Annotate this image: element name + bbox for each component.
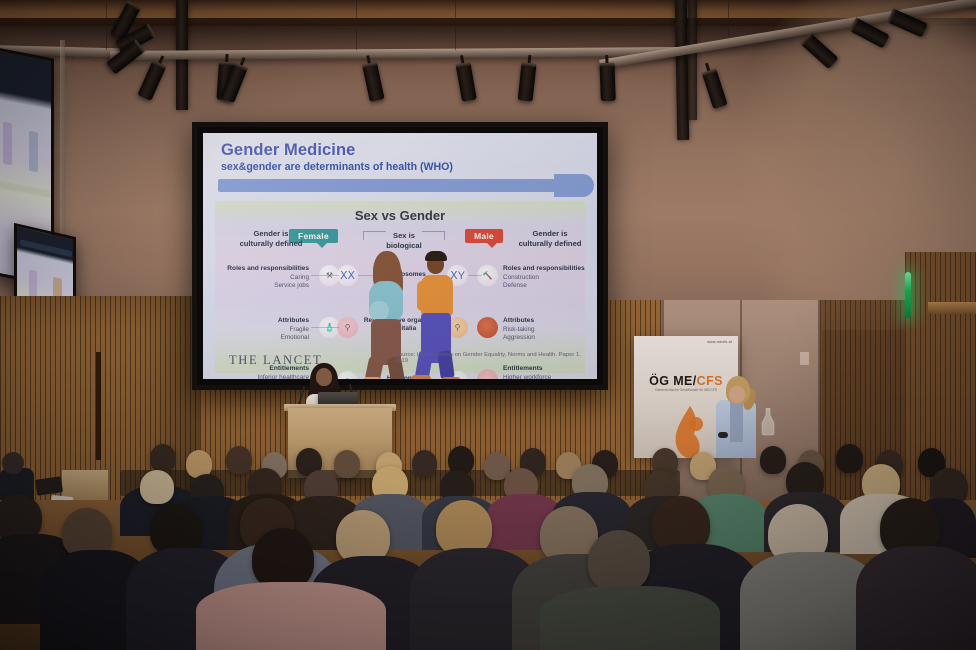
- banner-logo: ÖG ME/CFS: [634, 374, 738, 388]
- left-row-2-item-1: Fragile: [289, 326, 309, 333]
- audience-shoulders-closest: [540, 586, 720, 650]
- audience-head: [150, 444, 176, 472]
- connector-line: [311, 327, 339, 328]
- light-cable: [455, 0, 456, 50]
- chromosome-xx-icon: ⅩⅩ: [337, 265, 358, 286]
- handheld-microphone-icon: [718, 432, 728, 438]
- banner-url: www.mecfs.at: [707, 340, 732, 344]
- audience-head: [334, 450, 360, 478]
- audience-shoulders-front: [856, 546, 976, 650]
- left-header-line2: culturally defined: [229, 239, 313, 249]
- right-row-2: Attributes Risk-taking Aggression: [503, 317, 593, 343]
- left-row-1: Roles and responsibilities Caring Servic…: [223, 265, 309, 291]
- biological-bracket: [363, 231, 445, 240]
- audience-shoulders-closest: [196, 582, 386, 650]
- left-row-2-item-2: Emotional: [281, 334, 309, 341]
- hormone-molecule-icon: ⬡: [337, 371, 358, 379]
- banner-logo-suffix: CFS: [697, 374, 723, 388]
- center-header-line2: biological: [367, 241, 441, 251]
- left-row-3-item-1: Inferior healthcare: [257, 374, 309, 379]
- wall-switch-plate[interactable]: [800, 352, 809, 365]
- exit-indicator-light-icon: [905, 272, 911, 318]
- connector-line: [468, 275, 482, 276]
- left-column-header: Gender is culturally defined: [229, 229, 313, 248]
- left-row-1-item-1: Caring: [290, 274, 309, 281]
- male-badge: Male: [465, 229, 503, 243]
- banner-tagline: Österreichische Gesellschaft für ME/CFS: [634, 388, 738, 392]
- slide-subtitle: sex&gender are determinants of health (W…: [221, 161, 453, 173]
- standing-moderator-face: [729, 386, 745, 403]
- light-cable: [728, 0, 729, 36]
- wall-slot-left: [96, 352, 101, 460]
- piggy-bank-icon: [477, 369, 498, 379]
- right-row-1-item-1: Construction: [503, 274, 539, 281]
- left-row-1-heading: Roles and responsibilities: [227, 265, 309, 272]
- light-cable: [356, 0, 357, 50]
- slide-title: Gender Medicine: [221, 141, 355, 160]
- audience-head: [226, 446, 252, 474]
- right-row-1: Roles and responsibilities Construction …: [503, 265, 593, 291]
- spotlight-icon: [599, 55, 616, 101]
- right-row-2-item-1: Risk-taking: [503, 326, 535, 333]
- seated-person-left-head: [2, 452, 24, 474]
- lancet-logo: THE LANCET: [229, 353, 322, 368]
- left-header-line1: Gender is: [229, 229, 313, 239]
- right-row-3: Entitlements Higher workforce participat…: [503, 365, 593, 379]
- boxing-glove-icon: [477, 317, 498, 338]
- banner-flame-logo-icon: [670, 406, 706, 458]
- sex-vs-gender-infographic: Sex vs Gender Female Male Gender is cult…: [215, 201, 585, 373]
- light-cable: [106, 0, 107, 50]
- water-carafe-icon: [760, 408, 776, 436]
- left-row-1-item-2: Service jobs: [274, 282, 309, 289]
- right-row-2-item-2: Aggression: [503, 334, 535, 341]
- presentation-slide: Gender Medicine sex&gender are determina…: [203, 133, 597, 379]
- connector-line: [311, 275, 339, 276]
- infographic-title: Sex vs Gender: [215, 208, 585, 223]
- audience-head: [760, 446, 786, 474]
- right-row-3-item-1: Higher workforce: [503, 374, 551, 379]
- right-row-3-heading: Entitlements: [503, 365, 543, 372]
- audience-head: [836, 444, 863, 473]
- right-row-1-heading: Roles and responsibilities: [503, 265, 585, 272]
- right-header-line1: Gender is: [507, 229, 593, 239]
- left-row-2: Attributes Fragile Emotional: [223, 317, 309, 343]
- projection-screen: Gender Medicine sex&gender are determina…: [192, 122, 608, 390]
- audience-head-closest: [588, 530, 650, 592]
- slide-source-citation: Source: Lancet Series on Gender Equality…: [395, 352, 585, 364]
- slide-arrow-banner: [218, 179, 578, 192]
- right-column-header: Gender is culturally defined: [507, 229, 593, 248]
- audience-head-closest: [252, 528, 314, 590]
- right-row-2-heading: Attributes: [503, 317, 534, 324]
- lecture-hall-photo: Gender Medicine sex&gender are determina…: [0, 0, 976, 650]
- wood-ledge-right: [928, 302, 976, 314]
- uterus-icon: ⚲: [337, 317, 358, 338]
- banner-logo-prefix: ÖG ME/: [649, 374, 697, 388]
- audience-head: [412, 450, 437, 477]
- right-header-line2: culturally defined: [507, 239, 593, 249]
- right-row-1-item-2: Defense: [503, 282, 527, 289]
- light-cable: [690, 0, 691, 40]
- left-row-2-heading: Attributes: [278, 317, 309, 324]
- audience-head: [140, 470, 174, 504]
- standing-moderator-top: [730, 402, 743, 442]
